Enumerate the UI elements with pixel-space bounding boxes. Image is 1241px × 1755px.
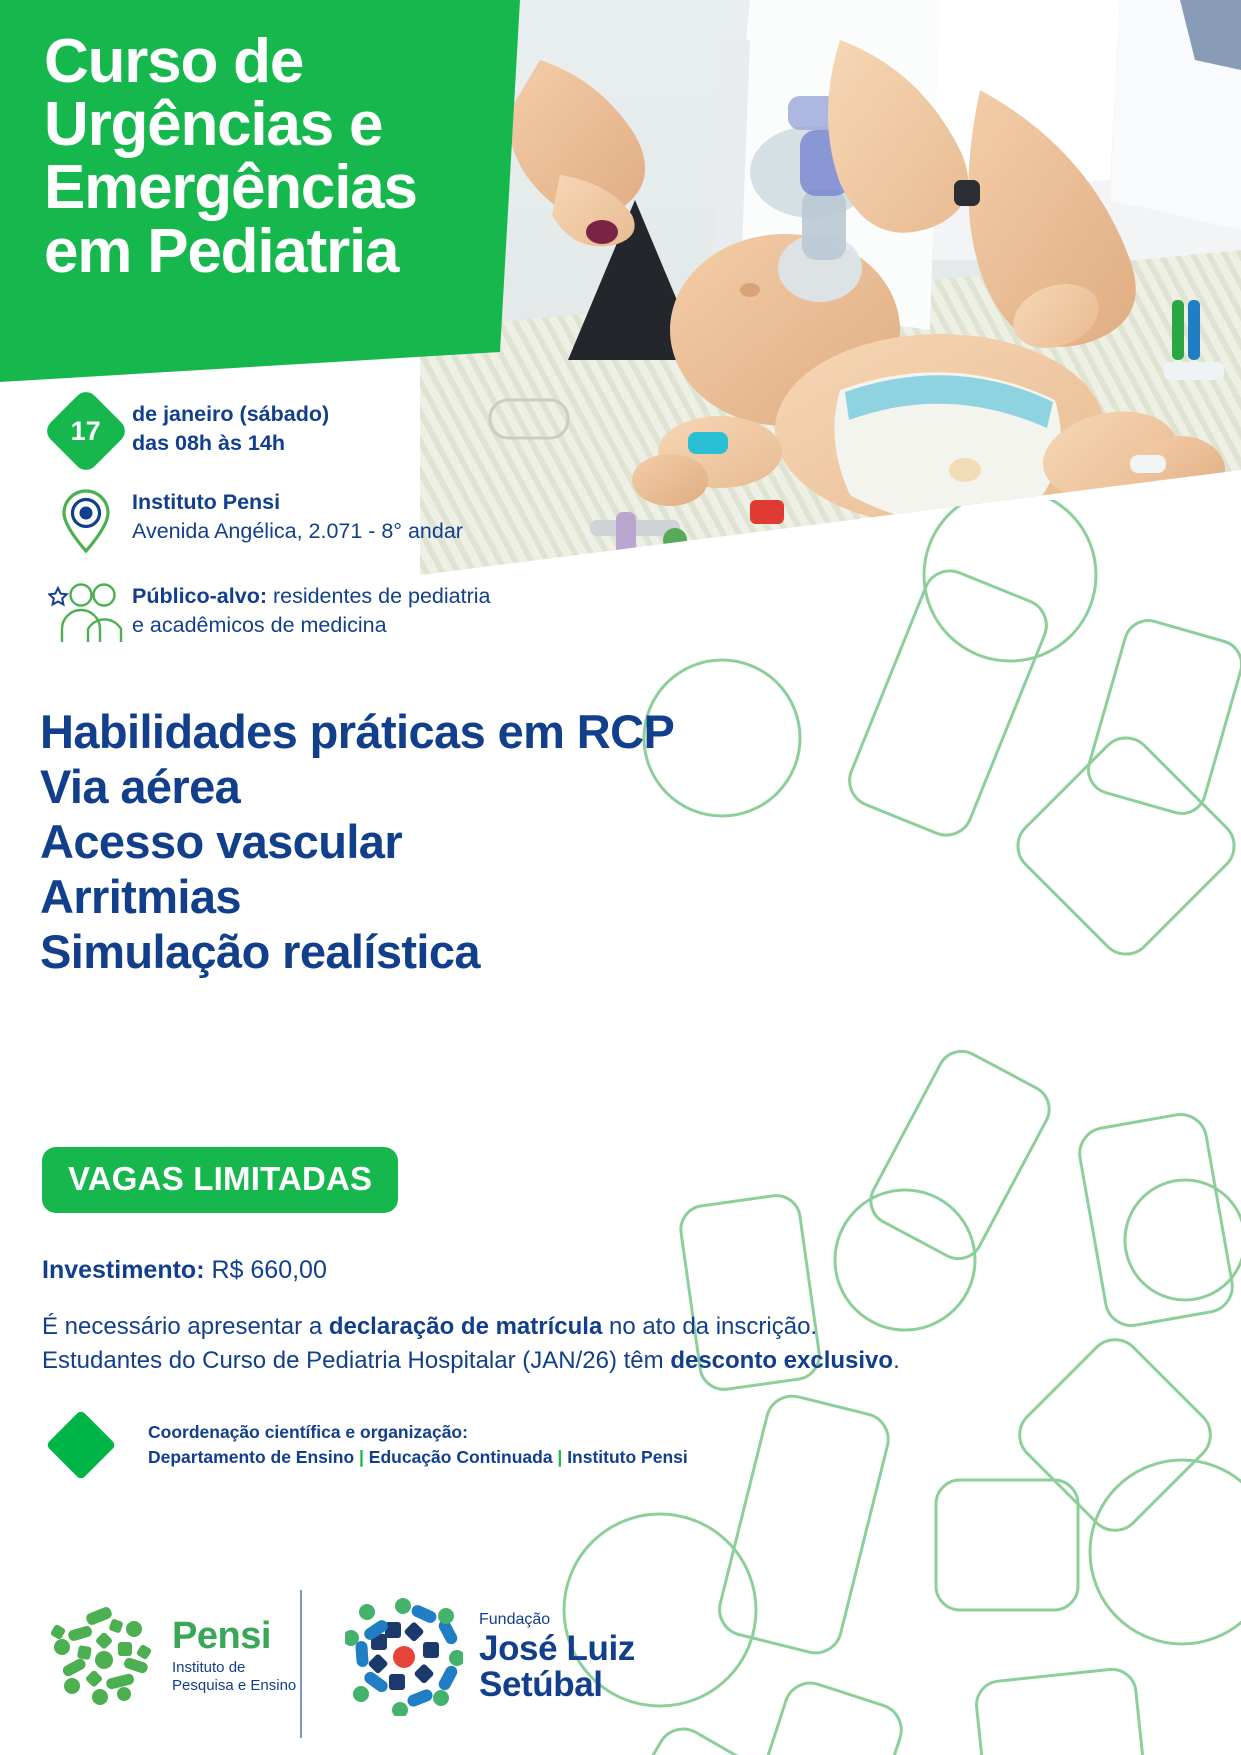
jls-wordmark-line-1: José Luiz <box>479 1631 635 1667</box>
info-row-location: Instituto Pensi Avenida Angélica, 2.071 … <box>40 486 660 554</box>
topic-item: Via aérea <box>40 760 940 815</box>
note-2b: desconto exclusivo <box>670 1347 893 1374</box>
date-text: de janeiro (sábado) das 08h às 14h <box>132 398 329 457</box>
topic-item: Simulação realística <box>40 925 940 980</box>
note-1c: no ato da inscrição. <box>602 1313 817 1340</box>
coordination-text: Coordenação científica e organização: De… <box>148 1420 688 1471</box>
price-label: Investimento: <box>42 1256 205 1284</box>
coordination-block: Coordenação científica e organização: De… <box>42 1420 688 1471</box>
audience-rest: residentes de pediatria <box>267 584 491 608</box>
note-2a: Estudantes do Curso de Pediatria Hospita… <box>42 1347 670 1374</box>
coordination-parts: Departamento de Ensino | Educação Contin… <box>148 1445 688 1470</box>
event-day-number: 17 <box>71 417 101 444</box>
coordination-part: Educação Continuada <box>369 1447 553 1467</box>
calendar-day-icon: 17 <box>40 398 132 462</box>
jls-logo-mark-icon <box>345 1598 463 1716</box>
limited-seats-badge: VAGAS LIMITADAS <box>42 1147 398 1213</box>
topic-item: Arritmias <box>40 870 940 925</box>
location-name: Instituto Pensi <box>132 488 463 517</box>
note-1a: É necessário apresentar a <box>42 1313 329 1340</box>
audience-text: Público-alvo: residentes de pediatria e … <box>132 580 491 639</box>
title-line-3: Emergências <box>44 156 514 219</box>
pensi-logo: Pensi Instituto de Pesquisa e Ensino <box>48 1602 296 1710</box>
title-line-1: Curso de <box>44 30 514 93</box>
pensi-tagline: Instituto de Pesquisa e Ensino <box>172 1659 296 1695</box>
note-1b: declaração de matrícula <box>329 1313 602 1340</box>
info-row-date: 17 de janeiro (sábado) das 08h às 14h <box>40 398 660 462</box>
date-line-2: das 08h às 14h <box>132 429 329 458</box>
note-line-2: Estudantes do Curso de Pediatria Hospita… <box>42 1344 900 1378</box>
title-line-2: Urgências e <box>44 93 514 156</box>
coordination-separator: | <box>553 1447 568 1467</box>
price-value: R$ 660,00 <box>205 1256 327 1284</box>
jose-luiz-setubal-logo: Fundação José Luiz Setúbal <box>345 1598 635 1716</box>
pensi-wordmark: Pensi <box>172 1617 296 1655</box>
jls-wordmark-line-2: Setúbal <box>479 1667 635 1703</box>
coordination-separator: | <box>354 1447 369 1467</box>
topic-item: Habilidades práticas em RCP <box>40 705 940 760</box>
poster-root: Curso de Urgências e Emergências em Pedi… <box>0 0 1241 1755</box>
topics-list: Habilidades práticas em RCP Via aérea Ac… <box>40 705 940 980</box>
coordination-part: Departamento de Ensino <box>148 1447 354 1467</box>
event-info-block: 17 de janeiro (sábado) das 08h às 14h In… <box>40 398 660 668</box>
note-line-1: É necessário apresentar a declaração de … <box>42 1310 900 1344</box>
coordination-part: Instituto Pensi <box>567 1447 688 1467</box>
pensi-tagline-line-2: Pesquisa e Ensino <box>172 1677 296 1695</box>
title-line-4: em Pediatria <box>44 220 514 283</box>
decorative-background-shapes <box>0 500 1241 1755</box>
audience-people-icon <box>40 580 132 644</box>
pensi-logo-mark-icon <box>48 1602 158 1710</box>
diamond-bullet-icon <box>46 1410 117 1481</box>
people-star-icon <box>48 582 124 644</box>
map-pin-icon <box>59 488 113 554</box>
footer-logos: Pensi Instituto de Pesquisa e Ensino <box>0 1590 1241 1750</box>
location-address: Avenida Angélica, 2.071 - 8° andar <box>132 519 463 543</box>
info-row-audience: Público-alvo: residentes de pediatria e … <box>40 580 660 644</box>
jls-prefix: Fundação <box>479 1612 635 1628</box>
audience-label: Público-alvo: <box>132 584 267 608</box>
topic-item: Acesso vascular <box>40 815 940 870</box>
audience-line-2: e acadêmicos de medicina <box>132 611 491 640</box>
note-2c: . <box>893 1347 900 1374</box>
enrollment-notes: É necessário apresentar a declaração de … <box>42 1310 900 1379</box>
audience-line-1: Público-alvo: residentes de pediatria <box>132 582 491 611</box>
page-title: Curso de Urgências e Emergências em Pedi… <box>44 30 514 283</box>
price-line: Investimento: R$ 660,00 <box>42 1255 327 1285</box>
coordination-title: Coordenação científica e organização: <box>148 1420 688 1445</box>
location-pin-icon <box>40 486 132 554</box>
logo-divider <box>300 1590 302 1738</box>
date-line-1: de janeiro (sábado) <box>132 400 329 429</box>
location-text: Instituto Pensi Avenida Angélica, 2.071 … <box>132 486 463 545</box>
pensi-tagline-line-1: Instituto de <box>172 1659 296 1677</box>
